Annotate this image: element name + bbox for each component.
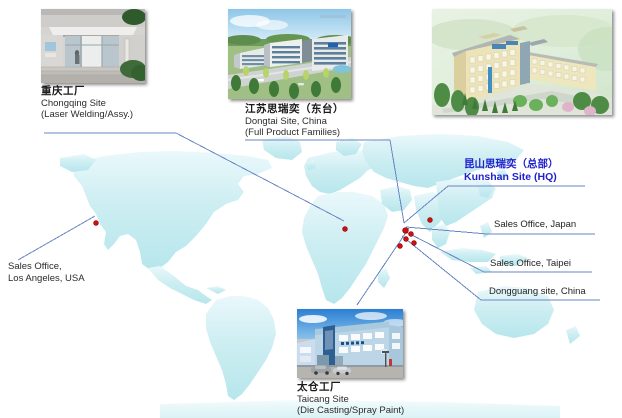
chongqing-caption-detail: (Laser Welding/Assy.) [41, 109, 133, 121]
map-marker-dongguang[interactable] [397, 236, 402, 241]
taicang-caption: 太仓工厂 Taicang Site (Die Casting/Spray Pai… [297, 382, 404, 417]
dongtai-caption-cn: 江苏思瑞奕（东台） [245, 104, 344, 116]
dongtai-leader [390, 140, 404, 223]
chongqing-caption-cn: 重庆工厂 [41, 86, 133, 98]
map-marker-japan[interactable] [427, 210, 432, 215]
kunshan-hq-photo [432, 9, 612, 115]
dongtai-caption: 江苏思瑞奕（东台） Dongtai Site, China (Full Prod… [245, 104, 344, 139]
chongqing-leader [176, 133, 344, 221]
map-marker-kunshan[interactable] [402, 221, 407, 226]
map-marker-taicang[interactable] [408, 224, 413, 229]
map-marker-dongtai[interactable] [342, 219, 347, 224]
los-angeles-line1: Sales Office, [8, 261, 85, 273]
taicang-site-photo [297, 309, 403, 378]
dongtai-caption-en: Dongtai Site, China [245, 116, 344, 128]
los-angeles-line2: Los Angeles, USA [8, 273, 85, 285]
map-marker-taipei[interactable] [411, 233, 416, 238]
callout-sales-office-japan: Sales Office, Japan [494, 219, 576, 230]
kunshan-hq-callout: 昆山思瑞奕（总部） Kunshan Site (HQ) [464, 158, 559, 183]
site-map-canvas: 重庆工厂 Chongqing Site (Laser Welding/Assy.… [0, 0, 622, 418]
kunshan-callout-en: Kunshan Site (HQ) [464, 171, 559, 184]
chongqing-site-photo [41, 9, 145, 83]
map-marker-shanghai[interactable] [403, 229, 408, 234]
callout-sales-office-taipei: Sales Office, Taipei [490, 258, 571, 269]
callout-los-angeles: Sales Office, Los Angeles, USA [8, 261, 85, 284]
taicang-caption-detail: (Die Casting/Spray Paint) [297, 405, 404, 417]
dongtai-caption-detail: (Full Product Families) [245, 127, 344, 139]
map-marker-los-angeles[interactable] [93, 213, 98, 218]
callout-dongguang-site: Dongguang site, China [489, 286, 586, 297]
taicang-caption-cn: 太仓工厂 [297, 382, 404, 394]
dongguang-leader [402, 236, 481, 300]
chongqing-caption-en: Chongqing Site [41, 98, 133, 110]
taicang-caption-en: Taicang Site [297, 394, 404, 406]
chongqing-caption: 重庆工厂 Chongqing Site (Laser Welding/Assy.… [41, 86, 133, 121]
japan-leader [406, 227, 487, 234]
los-angeles-leader [18, 216, 95, 260]
dongtai-site-photo [228, 9, 351, 99]
kunshan-callout-cn: 昆山思瑞奕（总部） [464, 158, 559, 171]
